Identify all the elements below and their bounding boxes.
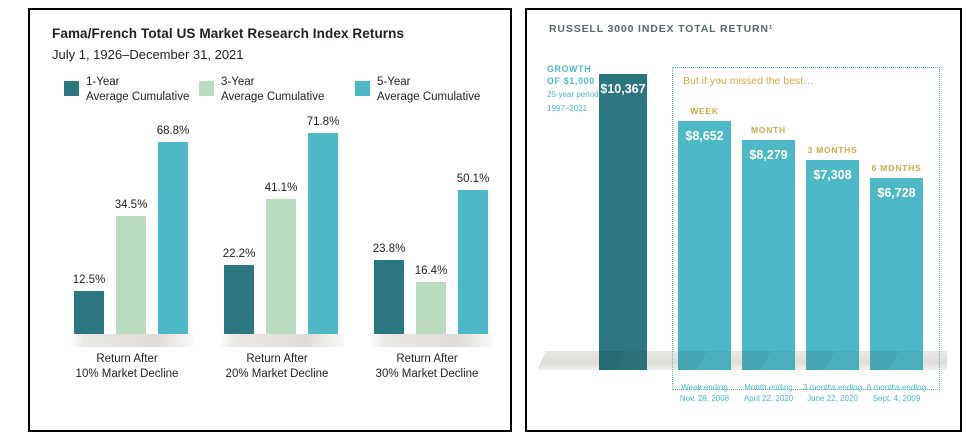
bar-value-label: 23.8% xyxy=(358,243,420,255)
bar-group-shadow xyxy=(370,334,494,347)
bar-3-year-10pct: 34.5% xyxy=(116,216,146,334)
left-chart-title: Fama/French Total US Market Research Ind… xyxy=(52,26,404,41)
bar-value-label: $8,279 xyxy=(742,148,795,162)
bar-value-label: 22.2% xyxy=(208,248,270,260)
x-axis-label-30pct: Return After 30% Market Decline xyxy=(352,352,502,381)
bar-group-shadow xyxy=(70,334,194,347)
bar-missed-best-month: MONTH $8,279 Month ending April 22, 2020 xyxy=(742,140,795,370)
bar-fill xyxy=(870,178,923,370)
bar-group-30-percent-decline: 23.8% 16.4% 50.1% xyxy=(352,106,502,346)
legend-label-line2: Average Cumulative xyxy=(377,91,480,103)
legend-label-line1: 1-Year xyxy=(86,76,119,88)
bar-value-label: 41.1% xyxy=(250,182,312,194)
legend-swatch-1-year xyxy=(64,81,79,96)
bar-fill xyxy=(416,282,446,334)
legend-label-line1: 3-Year xyxy=(221,76,254,88)
bar-fill xyxy=(116,216,146,334)
x-axis-label-line2: 10% Market Decline xyxy=(76,368,179,380)
legend-swatch-3-year xyxy=(199,81,214,96)
left-chart-legend: 1-Year Average Cumulative 3-Year Average… xyxy=(64,76,504,110)
legend-swatch-5-year xyxy=(355,81,370,96)
bar-footnote-line2: Sept. 4, 2009 xyxy=(873,394,921,403)
x-axis-label-line2: 30% Market Decline xyxy=(376,368,479,380)
bar-value-label: $10,367 xyxy=(599,82,647,96)
legend-label-line1: 5-Year xyxy=(377,76,410,88)
bar-base-shade xyxy=(678,351,731,370)
left-chart-plot-area: 12.5% 34.5% 68.8% 22.2% 41.1% xyxy=(30,106,510,346)
bar-fill xyxy=(742,140,795,370)
bar-value-label: 16.4% xyxy=(400,265,462,277)
bar-value-label: 50.1% xyxy=(442,173,504,185)
bar-value-label: 34.5% xyxy=(100,199,162,211)
bar-base-shade xyxy=(870,351,923,370)
bar-1-year-10pct: 12.5% xyxy=(74,291,104,334)
x-axis-label-line1: Return After xyxy=(396,353,457,365)
bar-value-label: 68.8% xyxy=(142,125,204,137)
bar-3-year-20pct: 41.1% xyxy=(266,199,296,334)
bar-fill xyxy=(458,190,488,334)
bar-base-shade xyxy=(742,351,795,370)
bar-fill xyxy=(678,121,731,370)
bar-fill xyxy=(74,291,104,334)
bar-growth-of-1000: $10,367 xyxy=(599,74,647,370)
bar-fill xyxy=(266,199,296,334)
legend-label-3-year: 3-Year Average Cumulative xyxy=(221,75,324,104)
bar-footnote-label: 6 months ending Sept. 4, 2009 xyxy=(846,383,947,404)
bar-3-year-30pct: 16.4% xyxy=(416,282,446,334)
legend-label-1-year: 1-Year Average Cumulative xyxy=(86,75,189,104)
bar-value-label: $6,728 xyxy=(870,186,923,200)
bar-group-shadow xyxy=(220,334,344,347)
legend-label-line2: Average Cumulative xyxy=(221,91,324,103)
bar-1-year-20pct: 22.2% xyxy=(224,265,254,334)
bar-missed-best-week: WEEK $8,652 Week ending Nov. 28, 2008 xyxy=(678,121,731,370)
bar-value-label: $7,308 xyxy=(806,168,859,182)
bar-group-10-percent-decline: 12.5% 34.5% 68.8% xyxy=(52,106,202,346)
bar-fill xyxy=(308,133,338,334)
russell-3000-chart-panel: RUSSELL 3000 INDEX TOTAL RETURN¹ GROWTH … xyxy=(525,8,962,432)
x-axis-label-line2: 20% Market Decline xyxy=(226,368,329,380)
bar-missed-best-6-months: 6 MONTHS $6,728 6 months ending Sept. 4,… xyxy=(870,178,923,370)
left-chart-subtitle: July 1, 1926–December 31, 2021 xyxy=(52,47,244,62)
bar-5-year-10pct: 68.8% xyxy=(158,142,188,334)
x-axis-label-10pct: Return After 10% Market Decline xyxy=(52,352,202,381)
bar-value-label: $8,652 xyxy=(678,129,731,143)
bar-fill xyxy=(158,142,188,334)
bar-kicker-label: MONTH xyxy=(728,125,809,135)
bar-value-label: 12.5% xyxy=(58,274,120,286)
bar-kicker-label: 6 MONTHS xyxy=(856,163,937,173)
bar-fill xyxy=(806,160,859,370)
x-axis-label-line1: Return After xyxy=(246,353,307,365)
bar-fill xyxy=(224,265,254,334)
bar-kicker-label: 3 MONTHS xyxy=(792,145,873,155)
missed-best-callout: But if you missed the best… xyxy=(683,75,814,87)
fama-french-chart-panel: Fama/French Total US Market Research Ind… xyxy=(28,8,512,432)
bar-value-label: 71.8% xyxy=(292,116,354,128)
bar-fill xyxy=(599,74,647,370)
bar-kicker-label: WEEK xyxy=(664,106,745,116)
legend-label-line2: Average Cumulative xyxy=(86,91,189,103)
bar-5-year-30pct: 50.1% xyxy=(458,190,488,334)
legend-label-5-year: 5-Year Average Cumulative xyxy=(377,75,480,104)
x-axis-label-line1: Return After xyxy=(96,353,157,365)
bar-5-year-20pct: 71.8% xyxy=(308,133,338,334)
bar-base-shade xyxy=(599,351,647,370)
right-chart-plot-area: But if you missed the best… $10,367 WEEK… xyxy=(527,10,960,430)
bar-group-20-percent-decline: 22.2% 41.1% 71.8% xyxy=(202,106,352,346)
bar-missed-best-3-months: 3 MONTHS $7,308 3 months ending June 22,… xyxy=(806,160,859,370)
bar-base-shade xyxy=(806,351,859,370)
x-axis-label-20pct: Return After 20% Market Decline xyxy=(202,352,352,381)
bar-footnote-line1: 6 months ending xyxy=(867,383,926,392)
